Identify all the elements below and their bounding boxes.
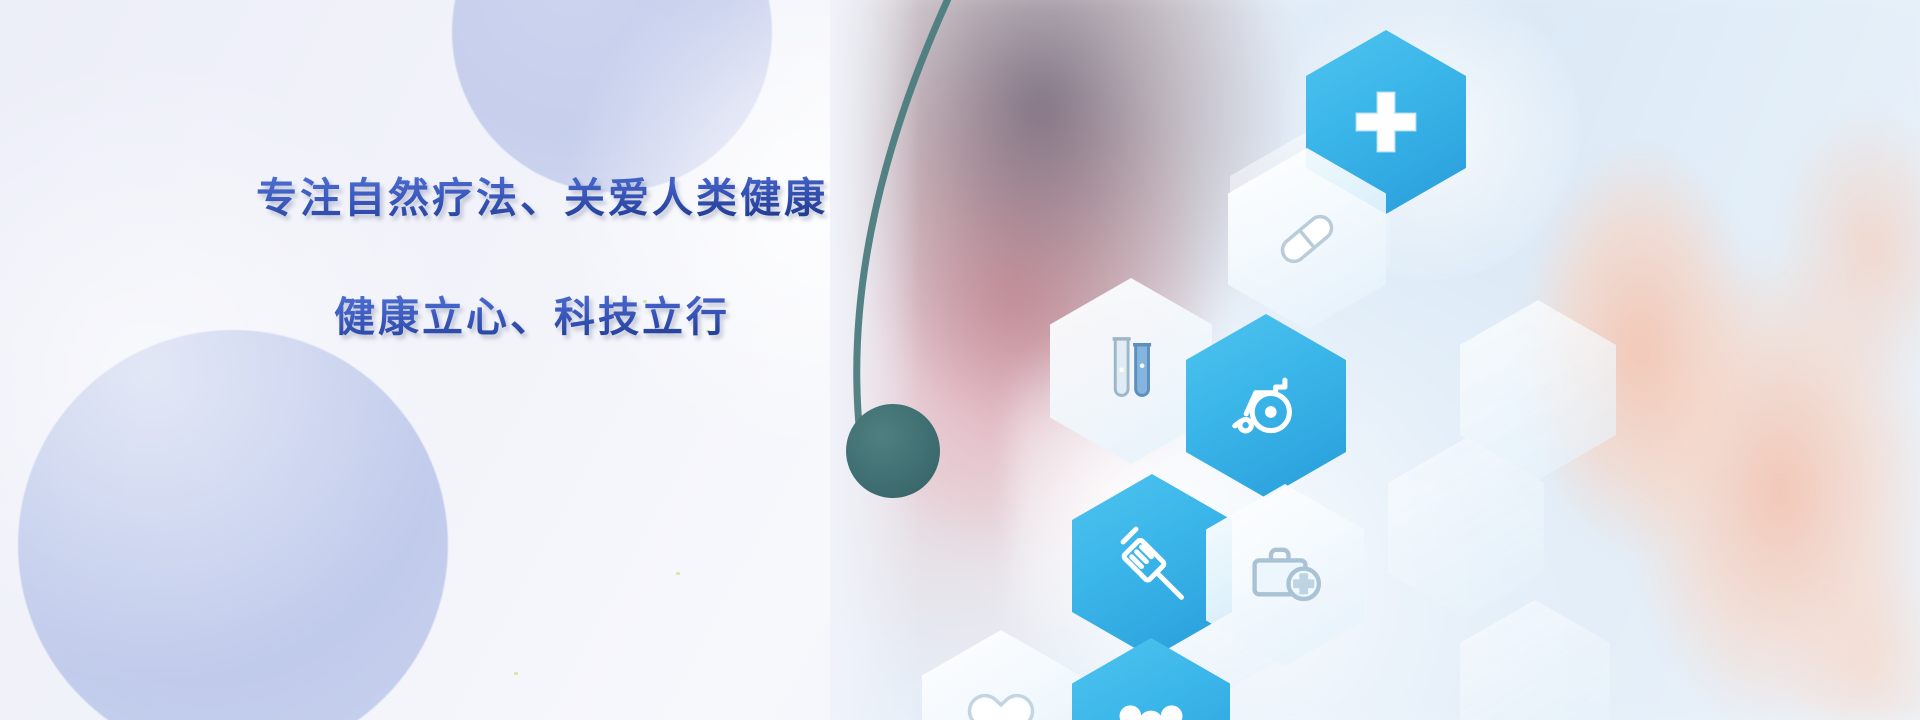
speck-5	[676, 572, 680, 575]
pill-capsule-icon	[1269, 201, 1345, 277]
promo-banner: 专注自然疗法、关爱人类健康 健康立心、科技立行	[0, 0, 1920, 720]
hexagon-heart	[922, 630, 1080, 720]
heart-icon	[963, 686, 1039, 720]
lavender-circle-top	[452, 0, 772, 192]
speck-4	[514, 672, 518, 675]
headline-line-1: 专注自然疗法、关爱人类健康	[256, 176, 876, 221]
background-wash-left	[0, 60, 460, 680]
headline-block: 专注自然疗法、关爱人类健康 健康立心、科技立行	[256, 176, 876, 340]
syringe-icon	[1112, 526, 1192, 606]
lavender-circle-bottom	[18, 330, 448, 720]
hexagon-decorative-3	[1460, 600, 1610, 720]
test-tubes-icon	[1096, 332, 1166, 410]
medical-bag-icon	[1247, 537, 1323, 613]
wheelchair-icon	[1227, 367, 1305, 445]
headline-line-2: 健康立心、科技立行	[334, 295, 876, 340]
medical-cross-icon	[1349, 85, 1423, 159]
medical-hexagon-cluster	[900, 0, 1920, 720]
family-group-icon	[1112, 696, 1190, 720]
